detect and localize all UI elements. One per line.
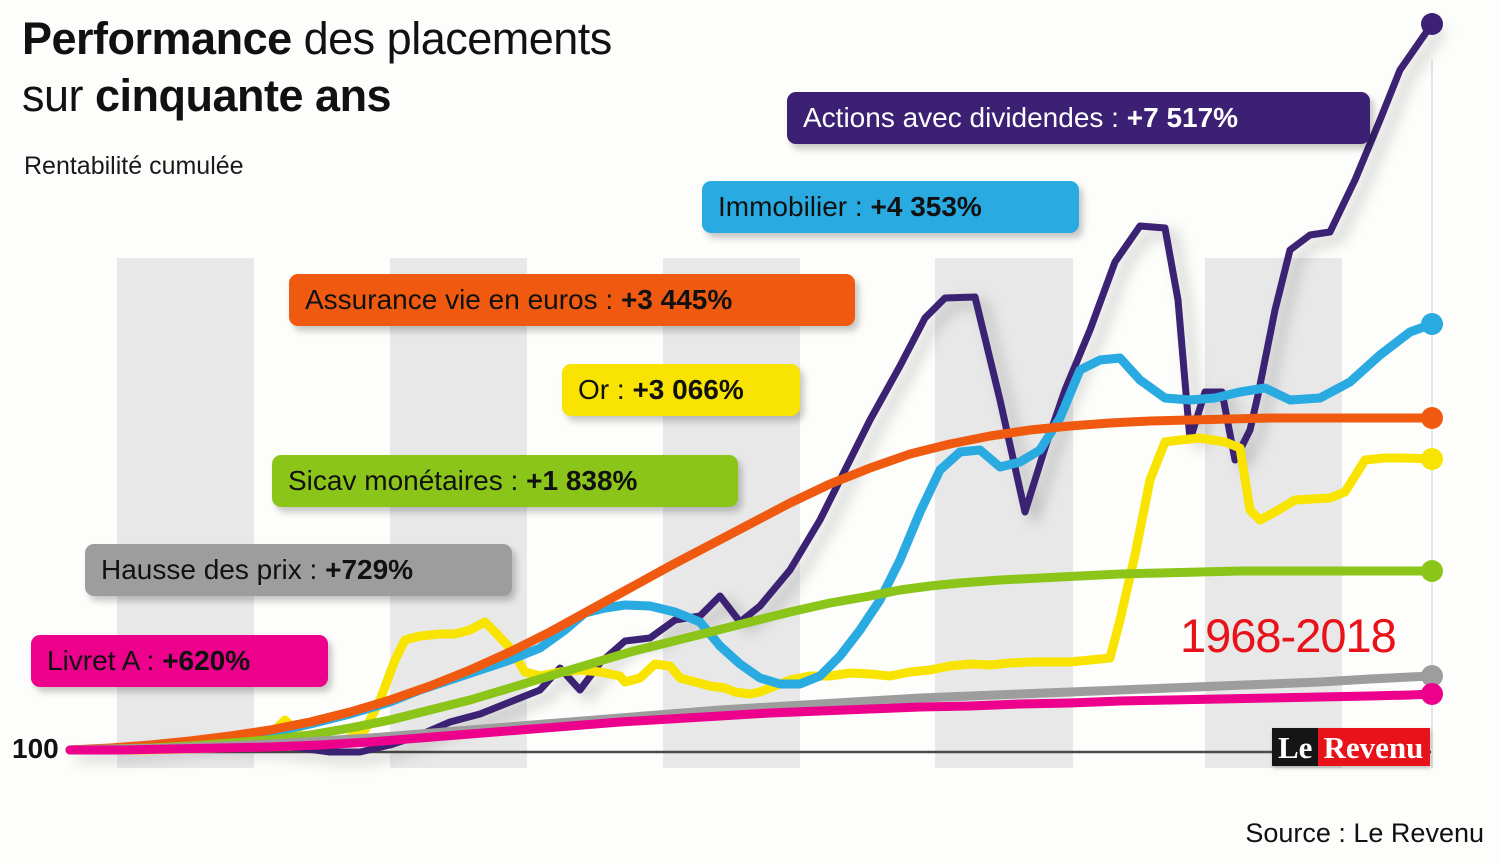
le-revenu-logo: Le Revenu	[1272, 728, 1430, 766]
title-rest-1: des placements	[292, 13, 612, 64]
endpoint-dot-assurance	[1421, 407, 1443, 429]
endpoint-dot-immobilier	[1421, 313, 1443, 335]
title-rest-2: sur	[22, 70, 95, 121]
title-bold-cinquante: cinquante ans	[95, 70, 391, 121]
endpoint-dot-sicav	[1421, 560, 1443, 582]
source-label: Source : Le Revenu	[1245, 818, 1484, 849]
logo-revenu-text: Revenu	[1318, 728, 1430, 766]
legend-value-sicav: +1 838%	[526, 465, 637, 496]
legend-pill-livret: Livret A : +620%	[31, 635, 328, 687]
legend-pill-assurance: Assurance vie en euros : +3 445%	[289, 274, 855, 326]
legend-label-immobilier: Immobilier	[718, 191, 847, 222]
legend-value-livret: +620%	[162, 645, 250, 676]
legend-separator-assurance: :	[598, 284, 621, 315]
legend-pill-hausse: Hausse des prix : +729%	[85, 544, 512, 596]
endpoint-dot-actions	[1421, 13, 1443, 35]
legend-value-actions: +7 517%	[1127, 102, 1238, 133]
legend-label-hausse: Hausse des prix	[101, 554, 302, 585]
chart-band-1	[117, 258, 254, 768]
legend-separator-actions: :	[1103, 102, 1126, 133]
logo-le-text: Le	[1272, 728, 1318, 766]
page-subtitle: Rentabilité cumulée	[24, 152, 244, 181]
endpoint-dot-livret	[1421, 683, 1443, 705]
legend-pill-or: Or : +3 066%	[562, 364, 800, 416]
page-title: Performance des placements sur cinquante…	[22, 10, 612, 124]
legend-value-hausse: +729%	[325, 554, 413, 585]
baseline-value-label: 100	[12, 733, 59, 765]
legend-value-immobilier: +4 353%	[870, 191, 981, 222]
year-range-label: 1968-2018	[1180, 608, 1396, 663]
legend-value-or: +3 066%	[632, 374, 743, 405]
legend-value-assurance: +3 445%	[621, 284, 732, 315]
legend-label-livret: Livret A	[47, 645, 139, 676]
legend-separator-or: :	[609, 374, 632, 405]
legend-separator-sicav: :	[503, 465, 526, 496]
legend-label-sicav: Sicav monétaires	[288, 465, 503, 496]
legend-label-actions: Actions avec dividendes	[803, 102, 1103, 133]
legend-pill-sicav: Sicav monétaires : +1 838%	[272, 455, 738, 507]
endpoint-dot-or	[1421, 448, 1443, 470]
legend-separator-hausse: :	[302, 554, 325, 585]
legend-pill-immobilier: Immobilier : +4 353%	[702, 181, 1079, 233]
legend-pill-actions: Actions avec dividendes : +7 517%	[787, 92, 1370, 144]
legend-separator-immobilier: :	[847, 191, 870, 222]
title-bold-performance: Performance	[22, 13, 292, 64]
legend-separator-livret: :	[139, 645, 162, 676]
legend-label-or: Or	[578, 374, 609, 405]
legend-label-assurance: Assurance vie en euros	[305, 284, 598, 315]
